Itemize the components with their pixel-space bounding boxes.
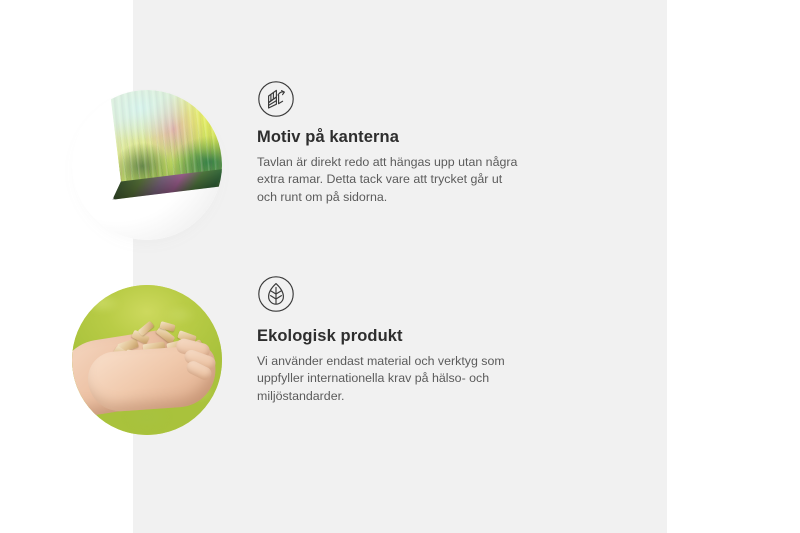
feature-title: Motiv på kanterna xyxy=(257,128,519,148)
feature-text-motiv-pa-kanterna: Motiv på kanterna Tavlan är direkt redo … xyxy=(257,128,519,207)
product-feature-infographic: Motiv på kanterna Tavlan är direkt redo … xyxy=(0,0,800,533)
canvas-corner-on-white-disc-photo xyxy=(72,90,222,240)
grass-background xyxy=(72,285,222,435)
canvas-edge-print-icon xyxy=(257,80,295,118)
feature-block-motiv-pa-kanterna: Motiv på kanterna Tavlan är direkt redo … xyxy=(0,70,534,260)
hands-holding-wood-chips-photo xyxy=(72,285,222,435)
feature-title: Ekologisk produkt xyxy=(257,327,519,347)
feature-text-ekologisk-produkt: Ekologisk produkt Vi använder endast mat… xyxy=(257,327,519,406)
feature-body: Tavlan är direkt redo att hängas upp uta… xyxy=(257,154,519,207)
feature-body: Vi använder endast material och verktyg … xyxy=(257,353,519,406)
printed-canvas-corner xyxy=(109,90,222,209)
leaf-icon xyxy=(257,275,295,313)
feature-block-ekologisk-produkt: Ekologisk produkt Vi använder endast mat… xyxy=(0,265,534,455)
white-disc xyxy=(72,90,222,240)
